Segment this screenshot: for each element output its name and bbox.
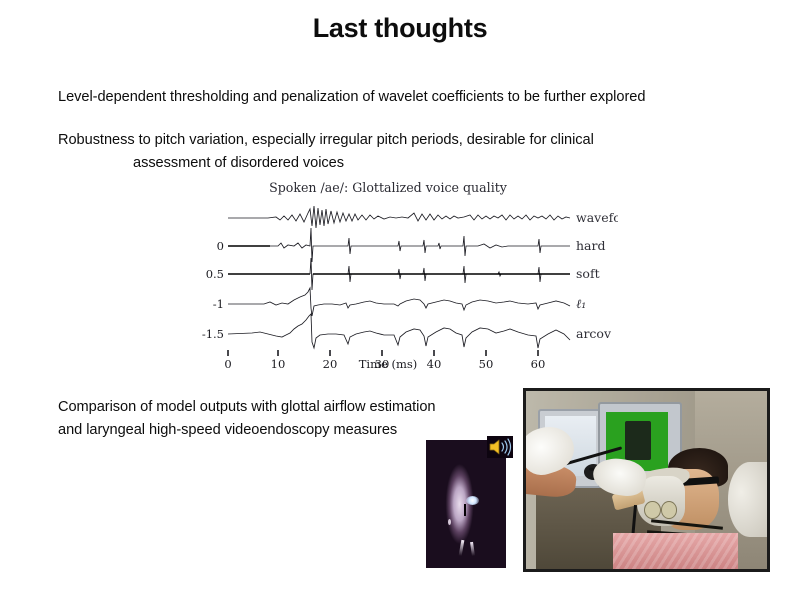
clinical-recording-photo xyxy=(523,388,770,572)
glottal-gap xyxy=(464,504,466,516)
series-label-arcov: arcov xyxy=(576,326,612,341)
chart-title: Spoken /ae/: Glottalized voice quality xyxy=(198,180,578,195)
series-label-waveform: waveform xyxy=(576,210,618,225)
series-label-soft: soft xyxy=(576,266,600,281)
ytick-label-neg1: -1 xyxy=(213,297,224,311)
bullet-paragraph-1: Level-dependent thresholding and penaliz… xyxy=(58,86,778,109)
series-waveform: waveform xyxy=(228,206,618,228)
laryngeal-endoscopy-photo xyxy=(426,440,506,568)
waveform-figure: Spoken /ae/: Glottalized voice quality w… xyxy=(198,180,618,372)
bullet-2-line-2: assessment of disordered voices xyxy=(58,152,344,175)
vocal-fold-highlight xyxy=(466,496,479,505)
bullet-3-line-2: and laryngeal high-speed videoendoscopy … xyxy=(58,422,397,438)
mucosa-specular-1 xyxy=(448,519,451,525)
series-label-l1: ℓ₁ xyxy=(576,296,586,311)
series-l1: ℓ₁ xyxy=(228,288,586,316)
patient-shirt-pattern xyxy=(613,533,738,572)
bullet-paragraph-2: Robustness to pitch variation, especiall… xyxy=(58,129,758,175)
ytick-label-neg15: -1.5 xyxy=(202,327,224,341)
exam-chair-headrest xyxy=(728,462,770,537)
mucosa-specular-3 xyxy=(470,542,475,556)
ytick-label-0: 0 xyxy=(217,239,224,253)
series-label-hard: hard xyxy=(576,238,605,253)
ytick-label-05: 0.5 xyxy=(206,267,224,281)
bullet-3-line-1: Comparison of model outputs with glottal… xyxy=(58,399,435,415)
x-axis-title: Time (ms) xyxy=(198,357,578,371)
series-hard: hard xyxy=(228,228,605,262)
y-axis-ticks: 0 0.5 -1 -1.5 xyxy=(202,239,224,341)
mask-sensor-1 xyxy=(644,501,660,519)
page-title: Last thoughts xyxy=(0,13,800,44)
series-arcov: arcov xyxy=(228,314,612,348)
bullet-2-line-1: Robustness to pitch variation, especiall… xyxy=(58,132,594,148)
series-soft: soft xyxy=(228,258,600,290)
audio-speaker-icon[interactable] xyxy=(487,436,513,458)
bullet-paragraph-3: Comparison of model outputs with glottal… xyxy=(58,396,538,442)
chart-plot-area: waveform hard soft ℓ₁ arcov 0 0.5 xyxy=(198,196,618,361)
mucosa-specular-2 xyxy=(458,540,464,556)
endoscope-video-image xyxy=(625,421,652,460)
